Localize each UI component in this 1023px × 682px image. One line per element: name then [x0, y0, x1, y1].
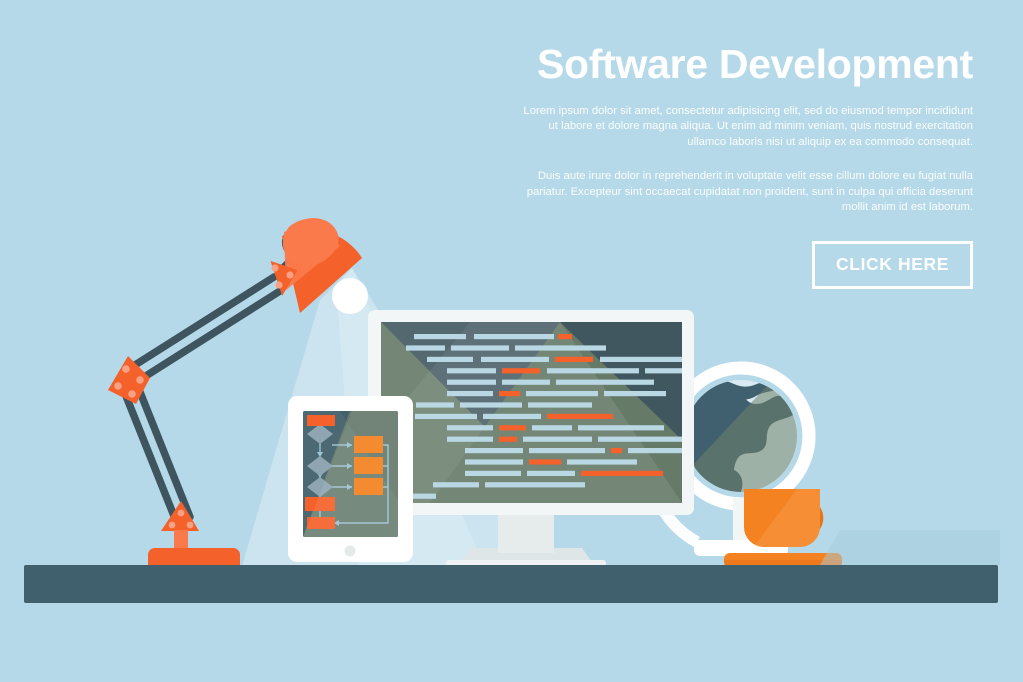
hero-paragraph-1: Lorem ipsum dolor sit amet, consectetur …	[513, 104, 973, 150]
hero-paragraph-2: Duis aute irure dolor in reprehenderit i…	[513, 169, 973, 215]
code-line-segment	[415, 414, 477, 419]
code-line-segment	[581, 471, 663, 476]
code-line-segment	[499, 425, 526, 430]
code-line-segment	[499, 437, 517, 442]
code-line-segment	[416, 402, 454, 407]
code-line-segment	[578, 425, 664, 430]
lamp-bulb	[332, 278, 368, 314]
tablet-home-button	[345, 546, 356, 557]
click-here-button[interactable]: CLICK HERE	[812, 241, 973, 289]
cta-container: CLICK HERE	[513, 241, 973, 289]
code-line-segment	[465, 471, 521, 476]
code-line-segment	[556, 380, 654, 385]
code-line-segment	[529, 459, 561, 464]
code-line-segment	[451, 345, 509, 350]
code-line-segment	[526, 391, 598, 396]
code-line-segment	[532, 425, 572, 430]
hero-text-block: Software Development Lorem ipsum dolor s…	[513, 40, 973, 289]
desk-surface	[24, 565, 998, 603]
code-line-segment	[529, 448, 605, 453]
illustration-canvas: Software Development Lorem ipsum dolor s…	[0, 0, 1023, 682]
code-line-segment	[465, 448, 523, 453]
code-line-segment	[447, 368, 496, 373]
code-line-segment	[447, 425, 493, 430]
code-line-segment	[547, 414, 613, 419]
code-line-segment	[523, 437, 592, 442]
code-line-segment	[515, 345, 606, 350]
code-line-segment	[414, 334, 466, 339]
code-line-segment	[433, 482, 479, 487]
code-line-segment	[502, 368, 540, 373]
code-line-segment	[474, 334, 554, 339]
code-line-segment	[483, 414, 541, 419]
code-line-segment	[547, 368, 639, 373]
code-line-segment	[528, 402, 592, 407]
code-line-segment	[481, 357, 549, 362]
code-line-segment	[558, 334, 572, 339]
code-line-segment	[406, 345, 445, 350]
code-line-segment	[447, 391, 493, 396]
page-title: Software Development	[513, 40, 973, 88]
code-line-segment	[555, 357, 593, 362]
code-line-segment	[604, 391, 666, 396]
code-line-segment	[427, 357, 473, 362]
code-line-segment	[465, 459, 523, 464]
code-line-segment	[485, 482, 585, 487]
code-line-segment	[527, 471, 575, 476]
code-line-segment	[447, 380, 496, 385]
tablet-device	[288, 396, 413, 562]
code-line-segment	[598, 437, 686, 442]
code-line-segment	[567, 459, 637, 464]
code-line-segment	[460, 402, 522, 407]
lamp-arms	[122, 277, 280, 521]
code-line-segment	[499, 391, 520, 396]
code-line-segment	[611, 448, 622, 453]
code-line-segment	[447, 437, 493, 442]
code-line-segment	[502, 380, 550, 385]
